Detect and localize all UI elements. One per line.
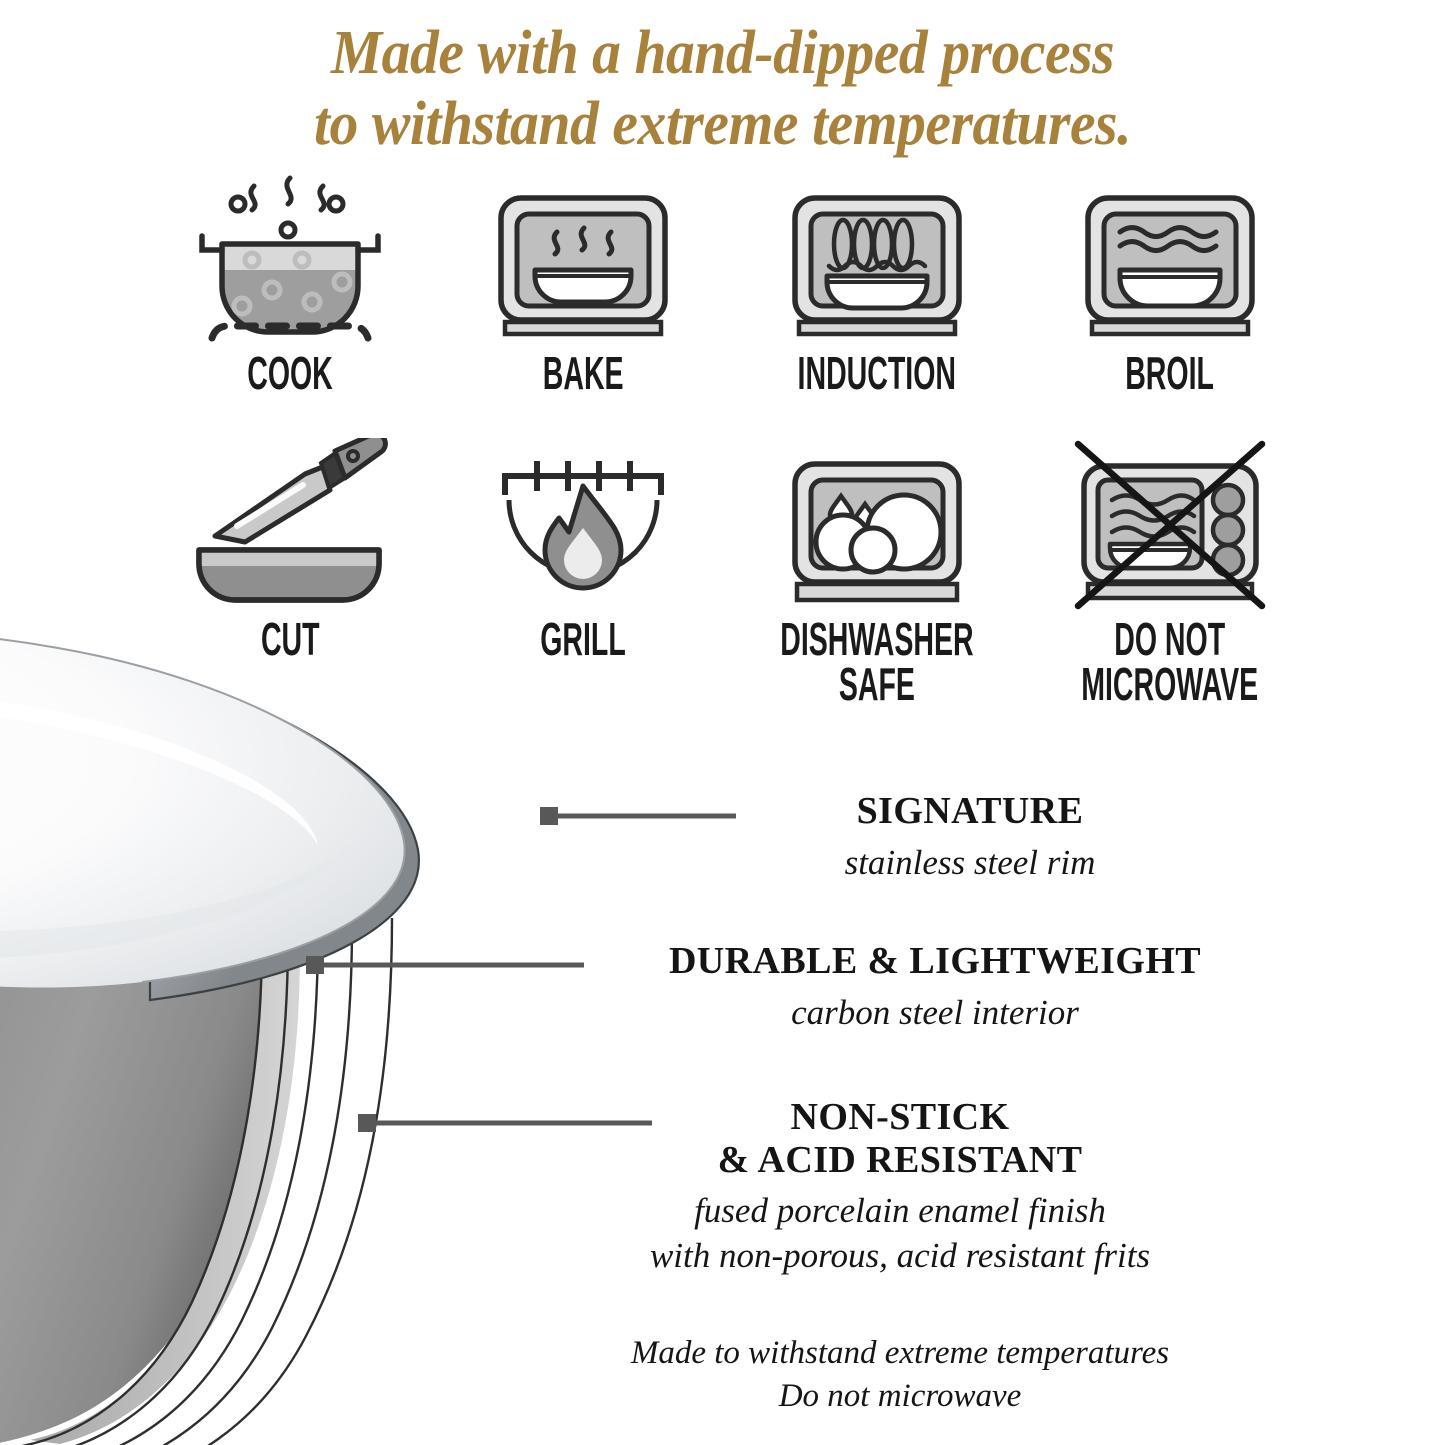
icon-cell-do-not-microwave: DO NOT MICROWAVE	[1030, 438, 1310, 707]
icon-label-bake: BAKE	[543, 351, 624, 396]
do-not-microwave-icon	[1062, 438, 1277, 613]
cut-icon	[185, 438, 395, 613]
infographic-page: Made with a hand-dipped process to withs…	[0, 0, 1445, 1445]
footer-line-2: Do not microwave	[520, 1375, 1280, 1418]
callout-durable: DURABLE & LIGHTWEIGHT carbon steel inter…	[590, 940, 1280, 1035]
grill-icon	[483, 438, 683, 613]
callout-subtitle-durable: carbon steel interior	[590, 991, 1280, 1036]
icon-label-broil: BROIL	[1126, 351, 1215, 396]
broil-icon	[1070, 172, 1270, 347]
icon-label-dishwasher-safe: DISHWASHER SAFE	[780, 617, 973, 707]
icon-label-cook: COOK	[247, 351, 333, 396]
icon-cell-cook: COOK	[150, 172, 430, 396]
headline-line-2: to withstand extreme temperatures.	[51, 89, 1395, 160]
icon-cell-induction: INDUCTION	[737, 172, 1017, 396]
footer-line-1: Made to withstand extreme temperatures	[631, 1335, 1169, 1371]
icon-cell-broil: BROIL	[1030, 172, 1310, 396]
induction-icon	[777, 172, 977, 347]
cook-icon	[190, 172, 390, 347]
callout-subtitle-signature: stainless steel rim	[640, 841, 1300, 886]
page-title: Made with a hand-dipped process to withs…	[51, 18, 1395, 159]
icon-row-1: COOK	[150, 172, 1310, 396]
leader-line-durable	[306, 950, 588, 980]
callout-title-signature: SIGNATURE	[640, 790, 1300, 833]
icon-label-do-not-microwave: DO NOT MICROWAVE	[1082, 617, 1259, 707]
footer-note: Made to withstand extreme temperatures D…	[520, 1332, 1280, 1418]
icon-cell-bake: BAKE	[443, 172, 723, 396]
callout-subtitle-nonstick: fused porcelain enamel finish with non-p…	[520, 1189, 1280, 1279]
icon-label-induction: INDUCTION	[797, 351, 955, 396]
callout-title-nonstick: NON-STICK & ACID RESISTANT	[520, 1096, 1280, 1181]
callout-signature: SIGNATURE stainless steel rim	[640, 790, 1300, 885]
headline-line-1: Made with a hand-dipped process	[331, 19, 1114, 87]
bake-icon	[483, 172, 683, 347]
callout-title-durable: DURABLE & LIGHTWEIGHT	[590, 940, 1280, 983]
icon-cell-dishwasher-safe: DISHWASHER SAFE	[737, 438, 1017, 707]
callout-nonstick: NON-STICK & ACID RESISTANT fused porcela…	[520, 1096, 1280, 1279]
dishwasher-safe-icon	[777, 438, 977, 613]
